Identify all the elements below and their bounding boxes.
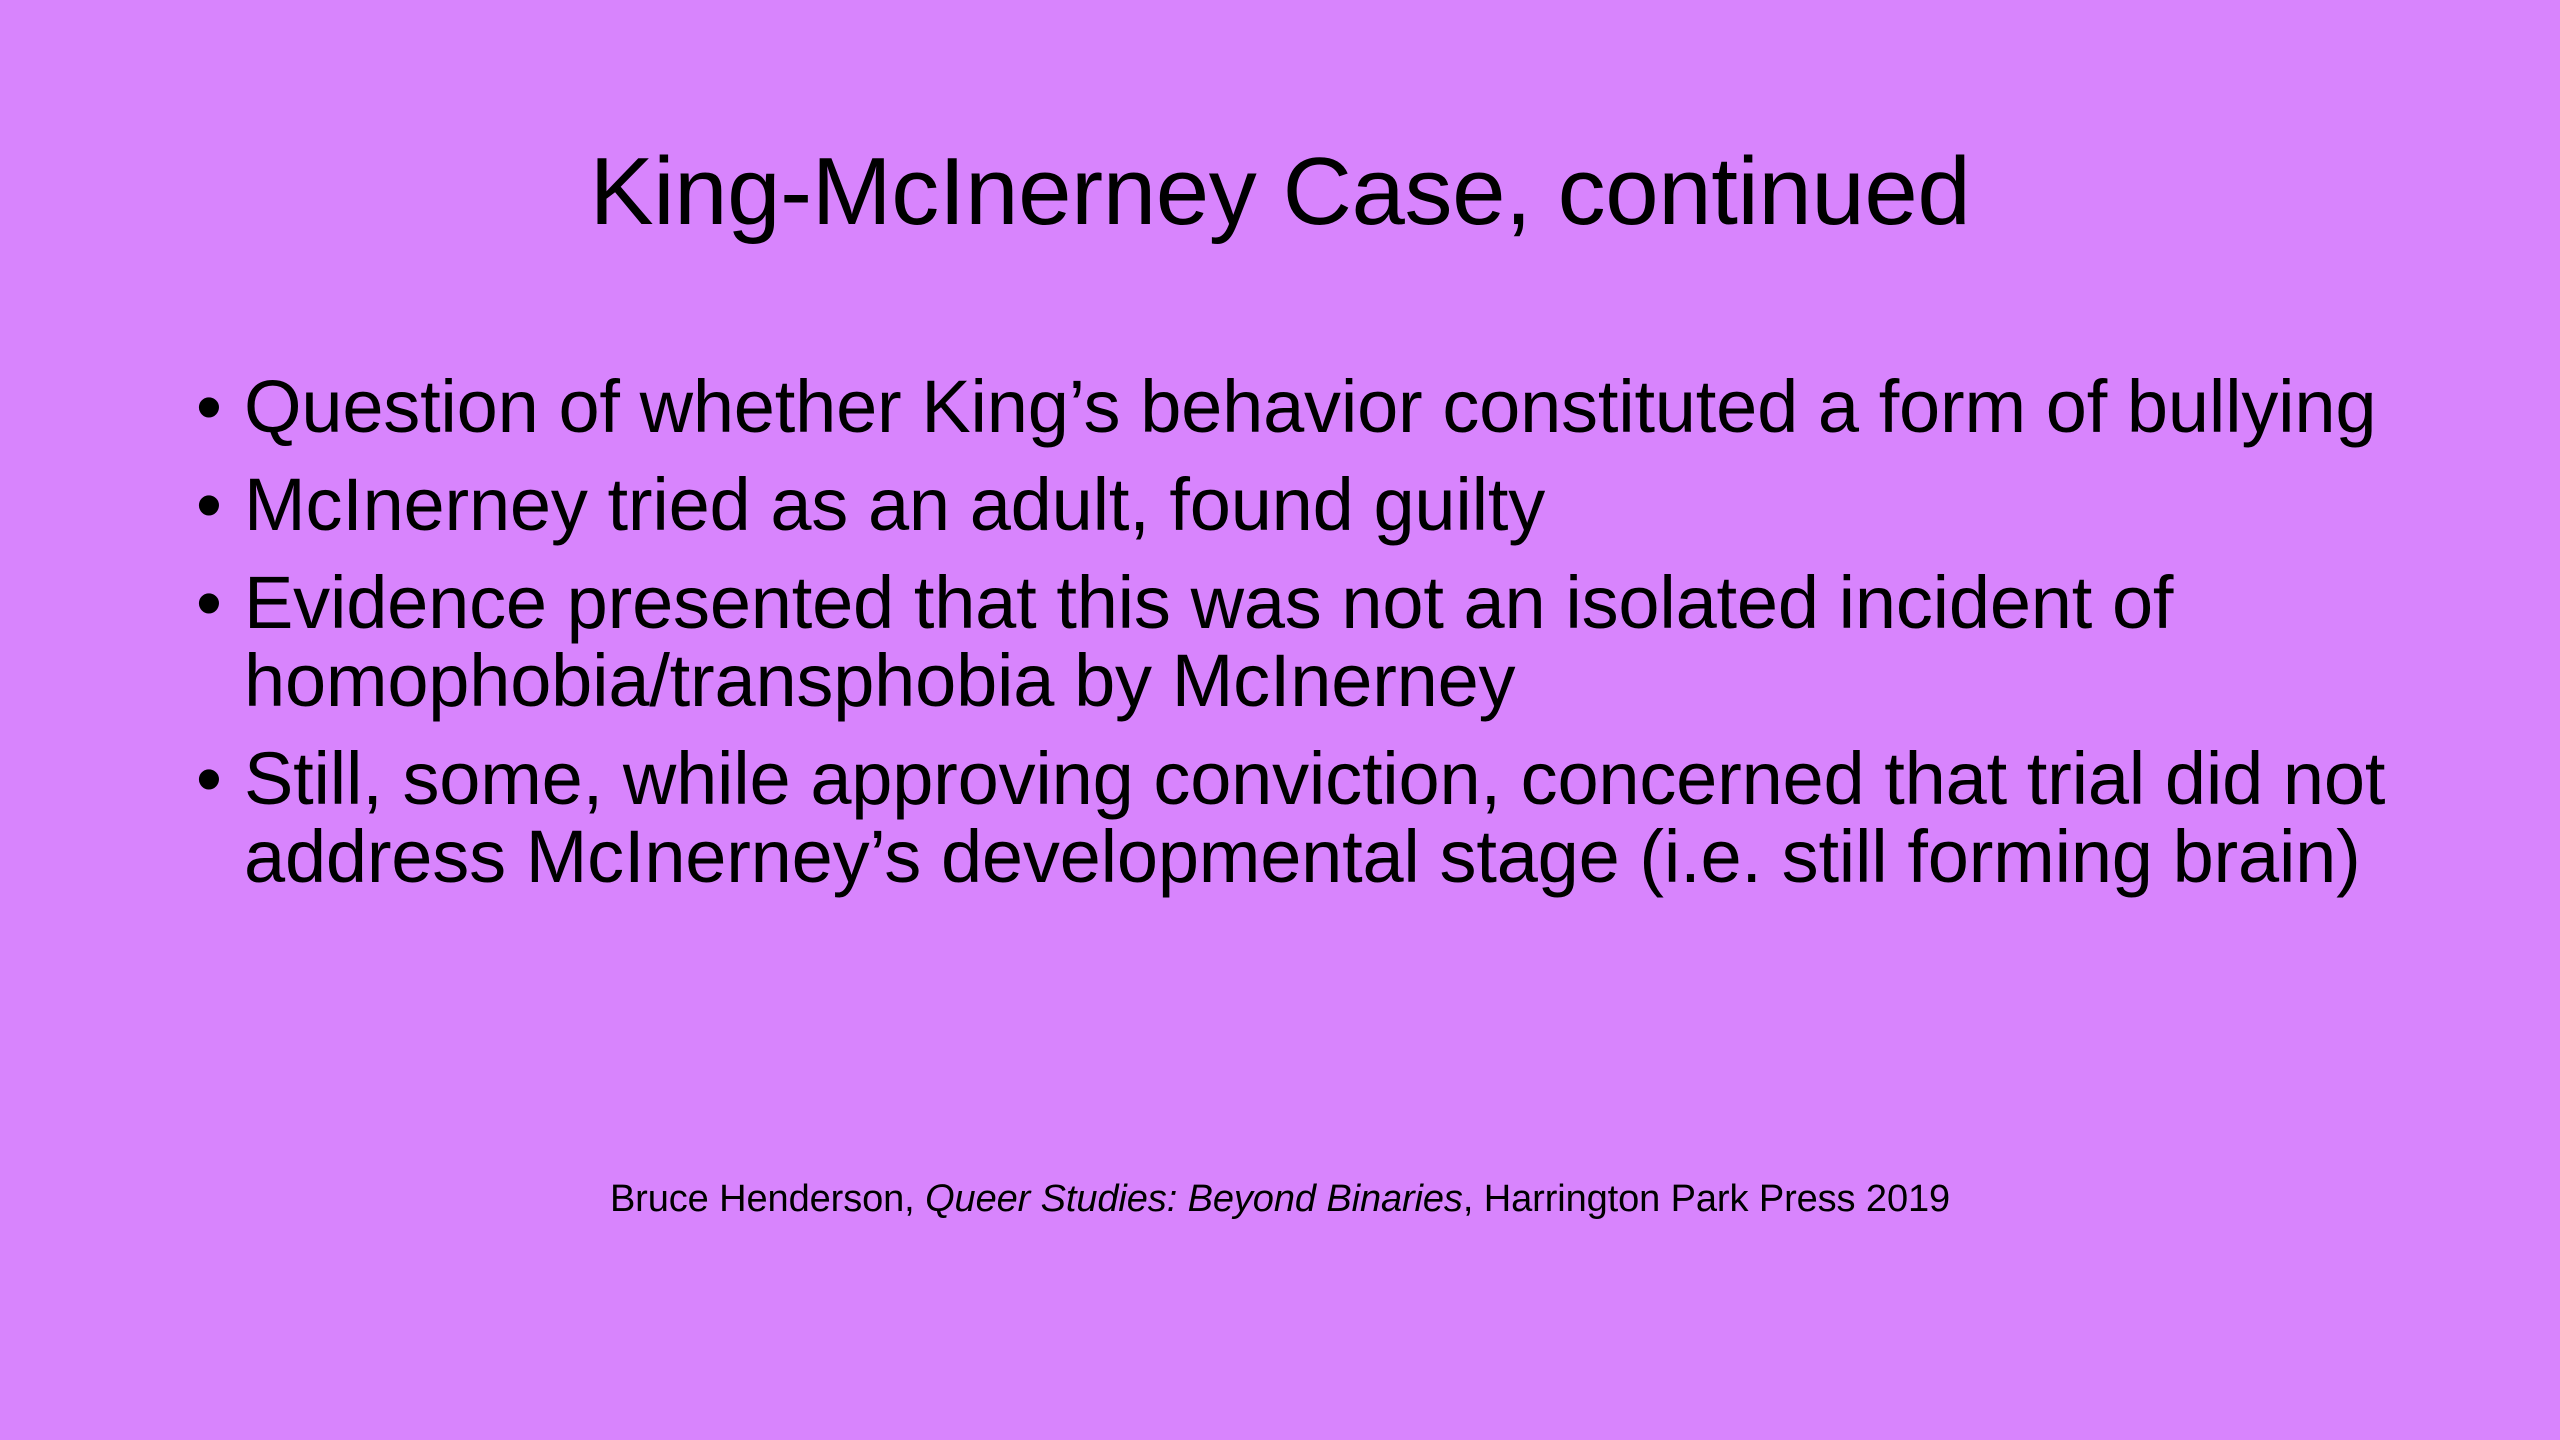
source-citation: Bruce Henderson, Queer Studies: Beyond B… xyxy=(610,1177,1950,1223)
list-item-text: McInerney tried as an adult, found guilt… xyxy=(244,466,2396,544)
list-item-text: Still, some, while approving conviction,… xyxy=(244,740,2396,896)
list-item: • Question of whether King’s behavior co… xyxy=(196,368,2396,446)
list-item: • McInerney tried as an adult, found gui… xyxy=(196,466,2396,544)
page-title: King-McInerney Case, continued xyxy=(210,136,2350,247)
bullet-point-icon: • xyxy=(196,564,244,642)
bullet-point-icon: • xyxy=(196,740,244,818)
citation-work-title: Queer Studies: Beyond Binaries xyxy=(925,1178,1463,1220)
slide-title-container: King-McInerney Case, continued xyxy=(210,136,2350,247)
list-item-text: Evidence presented that this was not an … xyxy=(244,564,2396,720)
slide-citation-container: Bruce Henderson, Queer Studies: Beyond B… xyxy=(0,1177,2560,1223)
slide-body-bullet-list: • Question of whether King’s behavior co… xyxy=(196,368,2396,896)
list-item: • Still, some, while approving convictio… xyxy=(196,740,2396,896)
list-item: • Evidence presented that this was not a… xyxy=(196,564,2396,720)
bullet-point-icon: • xyxy=(196,368,244,446)
citation-author: Bruce Henderson, xyxy=(610,1178,925,1220)
list-item-text: Question of whether King’s behavior cons… xyxy=(244,368,2396,446)
presentation-slide: King-McInerney Case, continued • Questio… xyxy=(0,0,2560,1440)
bullet-point-icon: • xyxy=(196,466,244,544)
citation-publisher: , Harrington Park Press 2019 xyxy=(1463,1178,1950,1220)
